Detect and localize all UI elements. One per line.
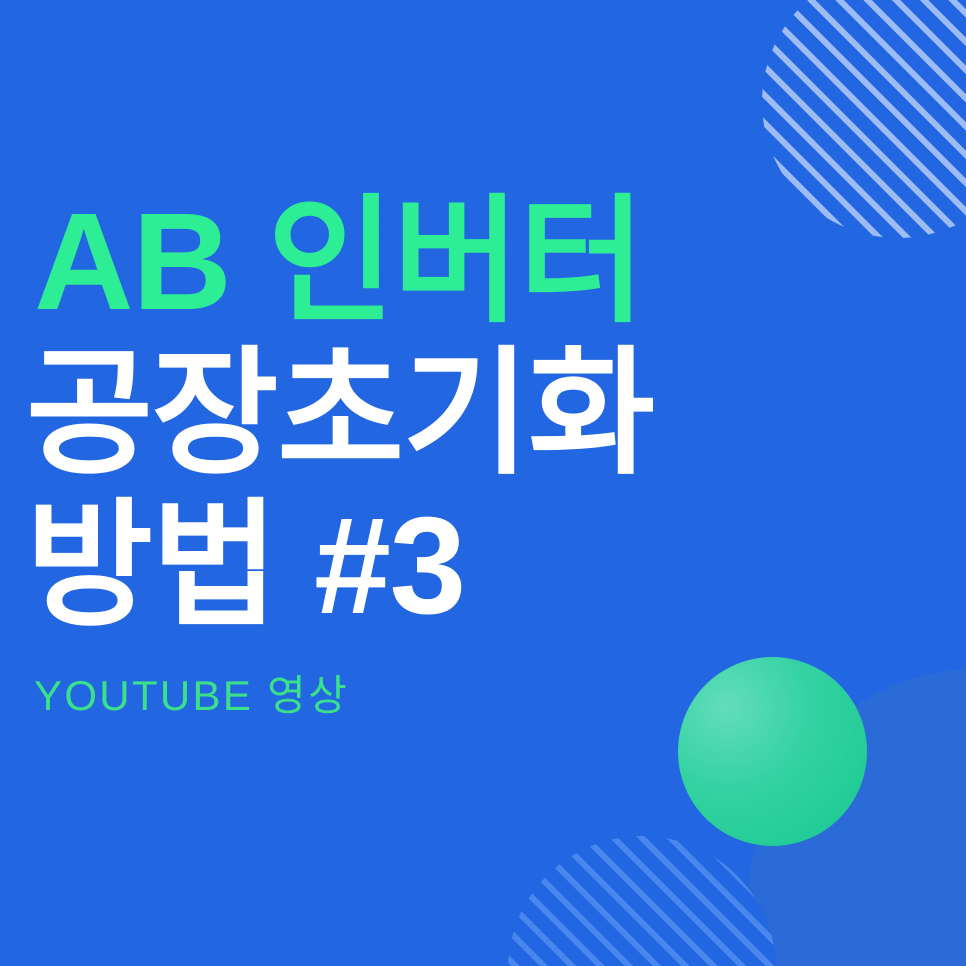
- subtitle-label: YOUTUBE 영상: [34, 662, 349, 723]
- content-layer: AB 인버터 공장초기화 방법 #3 YOUTUBE 영상: [0, 0, 966, 966]
- headline-line-1: AB 인버터: [26, 186, 926, 338]
- headline-line-3: 방법 #3: [26, 490, 926, 642]
- headline-line-2: 공장초기화: [26, 338, 926, 490]
- thumbnail-card: AB 인버터 공장초기화 방법 #3 YOUTUBE 영상: [0, 0, 966, 966]
- headline-block: AB 인버터 공장초기화 방법 #3: [26, 186, 926, 642]
